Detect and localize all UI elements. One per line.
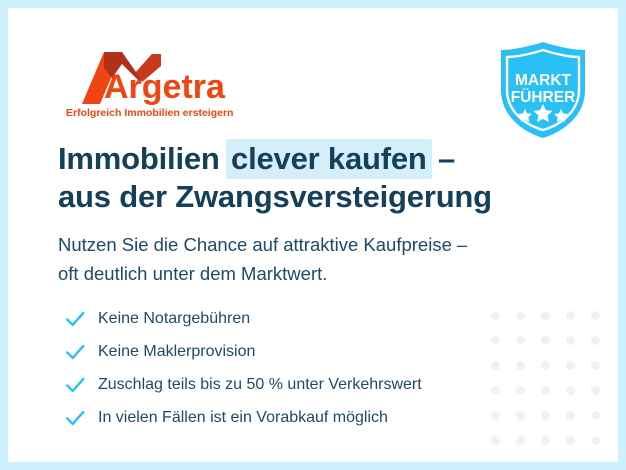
dot: [516, 311, 525, 320]
dot: [541, 411, 550, 420]
dot: [591, 336, 600, 345]
list-item: Keine Maklerprovision: [64, 337, 422, 367]
dot: [566, 436, 575, 445]
market-leader-badge: MARKT FÜHRER: [495, 40, 591, 140]
promo-banner: Argetra Erfolgreich Immobilien ersteiger…: [0, 0, 626, 470]
subtitle-line-2: oft deutlich unter dem Marktwert.: [58, 259, 558, 288]
dot: [566, 311, 575, 320]
dot: [491, 461, 500, 470]
dot: [541, 311, 550, 320]
dot: [516, 336, 525, 345]
dot: [516, 461, 525, 470]
dot: [591, 311, 600, 320]
list-item-label: Zuschlag teils bis zu 50 % unter Verkehr…: [98, 374, 422, 396]
dot: [491, 361, 500, 370]
dot: [491, 386, 500, 395]
check-icon: [64, 308, 86, 330]
headline-before-highlight: Immobilien: [58, 141, 228, 176]
dot: [541, 436, 550, 445]
dot: [541, 386, 550, 395]
dot: [491, 311, 500, 320]
dot: [566, 361, 575, 370]
logo-tagline: Erfolgreich Immobilien ersteigern: [66, 107, 233, 119]
dot: [591, 411, 600, 420]
dot: [516, 361, 525, 370]
dot: [541, 361, 550, 370]
list-item: Keine Notargebühren: [64, 304, 422, 334]
logo-wordmark: Argetra: [104, 68, 226, 106]
check-icon: [64, 407, 86, 429]
dot: [566, 386, 575, 395]
badge-line-1: MARKT: [515, 72, 571, 89]
headline-line-1: Immobilien clever kaufen –: [58, 141, 455, 176]
subtitle-line-1: Nutzen Sie die Chance auf attraktive Kau…: [58, 230, 558, 259]
dot: [566, 336, 575, 345]
benefits-list: Keine Notargebühren Keine Maklerprovisio…: [64, 304, 422, 436]
check-icon: [64, 341, 86, 363]
headline-highlight: clever kaufen: [226, 139, 432, 179]
headline-after-highlight: –: [430, 141, 455, 176]
list-item-label: In vielen Fällen ist ein Vorabkauf mögli…: [98, 407, 388, 429]
subtitle: Nutzen Sie die Chance auf attraktive Kau…: [58, 230, 558, 288]
dot: [566, 411, 575, 420]
list-item: In vielen Fällen ist ein Vorabkauf mögli…: [64, 403, 422, 433]
headline: Immobilien clever kaufen – aus der Zwang…: [58, 140, 578, 216]
badge-line-2: FÜHRER: [511, 89, 576, 106]
dot: [541, 336, 550, 345]
dot: [591, 461, 600, 470]
list-item: Zuschlag teils bis zu 50 % unter Verkehr…: [64, 370, 422, 400]
dot: [491, 436, 500, 445]
dot: [516, 436, 525, 445]
dot: [591, 386, 600, 395]
dot: [491, 411, 500, 420]
dot: [591, 436, 600, 445]
list-item-label: Keine Notargebühren: [98, 308, 250, 330]
dot-grid-decoration: [483, 303, 608, 470]
check-icon: [64, 374, 86, 396]
headline-line-2: aus der Zwangsversteigerung: [58, 178, 578, 216]
dot: [591, 361, 600, 370]
dot: [491, 336, 500, 345]
dot: [516, 411, 525, 420]
argetra-logo[interactable]: Argetra Erfolgreich Immobilien ersteiger…: [60, 48, 250, 120]
dot: [566, 461, 575, 470]
dot: [541, 461, 550, 470]
list-item-label: Keine Maklerprovision: [98, 341, 255, 363]
dot: [516, 386, 525, 395]
